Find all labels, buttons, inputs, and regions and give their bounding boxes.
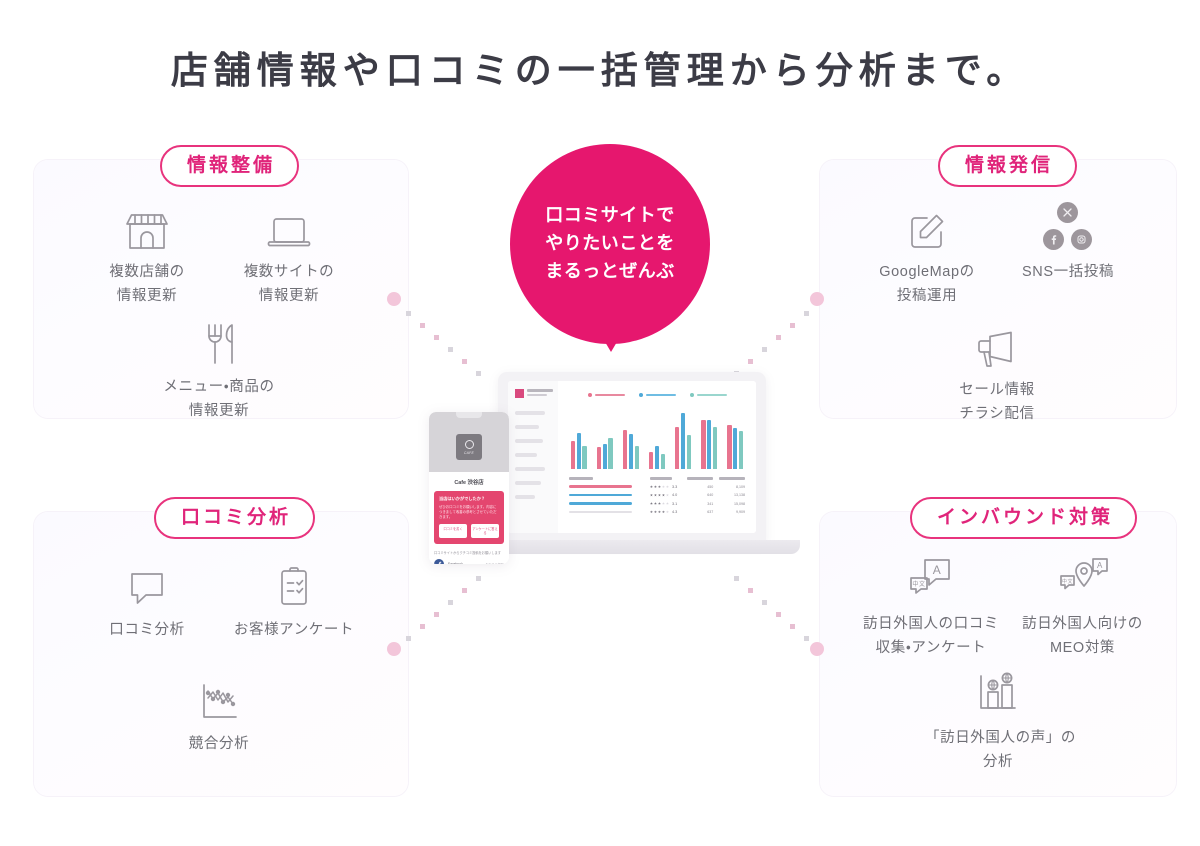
laptop-screen: 3.34508,1094.064013,1383.134115,0984.363… [508, 381, 756, 533]
survey-body: ぜひお口コミをお願いします。内容につきまして改善の参考とさせていただきます。 [439, 505, 499, 520]
cutlery-icon [159, 315, 279, 367]
badge-information-maintenance: 情報整備 [160, 145, 299, 187]
feature-foreign-voice-analysis: 「訪日外国人の声」の 分析 [925, 666, 1071, 775]
store-name-bar [569, 502, 632, 505]
rating-stars: 4.3 [650, 510, 683, 514]
answer-survey-button[interactable]: アンケートに答える [471, 524, 499, 538]
feature-label-line1: SNS一括投稿 [1008, 261, 1128, 285]
feature-label-line1: メニュー・商品の [159, 376, 279, 400]
bubble-line-1: 口コミサイトで [545, 202, 675, 230]
reply-count: 8,109 [713, 485, 745, 489]
center-bubble-text: 口コミサイトで やりたいことを まるっとぜんぶ [545, 202, 675, 286]
connector-node-top-left [387, 292, 401, 306]
bar-group [675, 413, 691, 469]
feature-label-line1: GoogleMapの [867, 261, 987, 285]
bar [577, 433, 581, 469]
social-cluster-icon [1008, 200, 1128, 252]
bar [608, 438, 612, 469]
infographic-page: 店舗情報や口コミの一括管理から分析まで。 情報整備 情報発信 口コミ分析 インバ… [0, 0, 1200, 846]
bar [661, 454, 665, 469]
store-name-bar [569, 485, 632, 488]
storefront-icon [87, 200, 207, 252]
cup-icon [465, 440, 474, 449]
laptop-mockup: 3.34508,1094.064013,1383.134115,0984.363… [498, 372, 766, 562]
bar [687, 435, 691, 469]
cafe-logo: CAFE [456, 434, 482, 460]
feature-customer-survey: お客様アンケート [224, 558, 364, 643]
write-review-button[interactable]: 口コミを書く [439, 524, 467, 538]
scatter-chart-icon [159, 672, 279, 724]
bar [707, 420, 711, 469]
laptop-icon [229, 200, 349, 252]
translate-bubbles-icon: A 中文 [856, 552, 1006, 604]
reply-count: 13,138 [713, 493, 745, 497]
feature-multi-site-update: 複数サイトの 情報更新 [229, 200, 349, 309]
feature-label-line1: お客様アンケート [224, 619, 364, 643]
connector-node-top-right [810, 292, 824, 306]
bar [597, 447, 601, 469]
phone-hero-image: CAFE [429, 412, 509, 472]
bar [623, 430, 627, 469]
dashboard-main: 3.34508,1094.064013,1383.134115,0984.363… [558, 381, 756, 533]
feature-sns-bulk-post: SNS一括投稿 [1008, 200, 1128, 285]
bar [603, 444, 607, 469]
bar [713, 427, 717, 469]
rating-value: 4.3 [672, 510, 677, 514]
rating-value: 3.1 [672, 502, 677, 506]
bar-group [727, 425, 743, 469]
phone-notch [456, 412, 482, 418]
legend-item-series-2 [639, 393, 676, 397]
svg-text:中文: 中文 [912, 580, 925, 588]
feature-menu-product-update: メニュー・商品の 情報更新 [159, 315, 279, 424]
facebook-icon [1043, 229, 1064, 250]
megaphone-icon [937, 318, 1057, 370]
bar [655, 446, 659, 469]
feature-label-line2: 分析 [925, 751, 1071, 775]
dashboard-nav[interactable] [515, 411, 545, 499]
laptop-lid: 3.34508,1094.064013,1383.134115,0984.363… [498, 372, 766, 544]
feature-label-line1: 複数サイトの [229, 261, 349, 285]
post-count: 640 [683, 493, 713, 497]
feature-label-line2: MEO対策 [1010, 637, 1155, 661]
feature-multi-store-update: 複数店舗の 情報更新 [87, 200, 207, 309]
post-count: 450 [683, 485, 713, 489]
bar [649, 452, 653, 469]
legend-item-series-1 [588, 393, 625, 397]
rating-stars: 3.3 [650, 485, 683, 489]
feature-label-line2: 収集・アンケート [856, 637, 1006, 661]
clipboard-check-icon [224, 558, 364, 610]
survey-title: 当店はいかがでしたか？ [439, 496, 499, 502]
bar-group [571, 433, 587, 469]
pencil-square-icon [867, 200, 987, 252]
phone-store-name: Cafe 渋谷店 [429, 478, 509, 486]
bar-group [597, 438, 613, 469]
site-action: クチコミ投稿 [485, 562, 504, 564]
feature-label-line2: 情報更新 [87, 285, 207, 309]
feature-label-line1: 競合分析 [159, 733, 279, 757]
speech-bubble-icon [87, 558, 207, 610]
globe-bar-chart-icon [925, 666, 1071, 718]
badge-review-analysis: 口コミ分析 [154, 497, 315, 539]
bar-group [649, 446, 665, 469]
review-site-row-facebook[interactable]: Facebook クチコミ投稿 [434, 559, 504, 564]
table-header-row [567, 475, 747, 483]
table-body: 3.34508,1094.064013,1383.134115,0984.363… [567, 483, 747, 517]
post-count: 637 [683, 510, 713, 514]
laptop-base [464, 540, 800, 554]
feature-label-line1: セール情報 [937, 379, 1057, 403]
rating-value: 4.0 [672, 493, 677, 497]
feature-label-line2: チラシ配信 [937, 403, 1057, 427]
table-row[interactable]: 3.34508,109 [567, 483, 747, 491]
phone-mockup: CAFE Cafe 渋谷店 当店はいかがでしたか？ ぜひお口コミをお願いします。… [429, 412, 509, 564]
center-speech-bubble: 口コミサイトで やりたいことを まるっとぜんぶ [510, 144, 710, 344]
cafe-logo-text: CAFE [464, 451, 474, 455]
feature-foreign-meo: A 中文 訪日外国人向けの MEO対策 [1010, 552, 1155, 661]
feature-label-line2: 情報更新 [229, 285, 349, 309]
badge-information-publishing: 情報発信 [938, 145, 1077, 187]
bar [727, 425, 731, 469]
reply-count: 15,098 [713, 502, 745, 506]
svg-text:中文: 中文 [1061, 578, 1072, 585]
dashboard-sidebar [508, 381, 558, 533]
feature-label-line1: 訪日外国人の口コミ [856, 613, 1006, 637]
bar [571, 441, 575, 469]
rating-stars: 3.1 [650, 502, 683, 506]
store-name-bar [569, 511, 632, 514]
svg-text:A: A [1097, 561, 1103, 570]
bar [739, 431, 743, 470]
connector-node-bottom-right [810, 642, 824, 656]
logo-mark [515, 389, 524, 398]
feature-label-line2: 投稿運用 [867, 285, 987, 309]
bar [635, 446, 639, 469]
store-name-bar [569, 494, 632, 497]
svg-text:A: A [933, 563, 942, 577]
bar [733, 428, 737, 469]
feature-competitor-analysis: 競合分析 [159, 672, 279, 757]
chart-legend [567, 393, 747, 397]
survey-card: 当店はいかがでしたか？ ぜひお口コミをお願いします。内容につきまして改善の参考と… [434, 491, 504, 544]
connector-node-bottom-left [387, 642, 401, 656]
feature-review-analysis: 口コミ分析 [87, 558, 207, 643]
map-pin-translate-icon: A 中文 [1010, 552, 1155, 604]
feature-label-line1: 訪日外国人向けの [1010, 613, 1155, 637]
instagram-icon [1071, 229, 1092, 250]
bar-chart [571, 403, 743, 469]
feature-label-line2: 情報更新 [159, 400, 279, 424]
feature-label-line1: 複数店舗の [87, 261, 207, 285]
feature-label-line1: 「訪日外国人の声」の [925, 727, 1071, 751]
store-table: 3.34508,1094.064013,1383.134115,0984.363… [567, 475, 747, 516]
rating-value: 3.3 [672, 485, 677, 489]
page-title: 店舗情報や口コミの一括管理から分析まで。 [0, 40, 1200, 94]
bar [681, 413, 685, 469]
table-row[interactable]: 4.064013,138 [567, 491, 747, 499]
table-row[interactable]: 4.36379,909 [567, 508, 747, 516]
review-site-note: 口コミサイトからクチコミ投稿をお願いします [434, 550, 504, 555]
legend-item-series-3 [690, 393, 727, 397]
site-label: Facebook [448, 562, 481, 564]
feature-label-line1: 口コミ分析 [87, 619, 207, 643]
feature-sale-flyer-distribution: セール情報 チラシ配信 [937, 318, 1057, 427]
badge-inbound-measures: インバウンド対策 [910, 497, 1137, 539]
logo-wordmark [527, 389, 553, 396]
bar-group [623, 430, 639, 469]
bar [629, 434, 633, 469]
bar [701, 420, 705, 469]
bar-group [701, 420, 717, 469]
bar [675, 427, 679, 469]
rating-stars: 4.0 [650, 493, 683, 497]
feature-foreign-review-collection: A 中文 訪日外国人の口コミ 収集・アンケート [856, 552, 1006, 661]
bubble-line-3: まるっとぜんぶ [545, 258, 675, 286]
post-count: 341 [683, 502, 713, 506]
dashboard-logo [515, 389, 553, 398]
bubble-line-2: やりたいことを [545, 230, 675, 258]
bar [582, 446, 586, 469]
x-icon [1057, 202, 1078, 223]
facebook-icon [434, 559, 444, 564]
feature-googlemap-posting: GoogleMapの 投稿運用 [867, 200, 987, 309]
table-row[interactable]: 3.134115,098 [567, 499, 747, 507]
reply-count: 9,909 [713, 510, 745, 514]
